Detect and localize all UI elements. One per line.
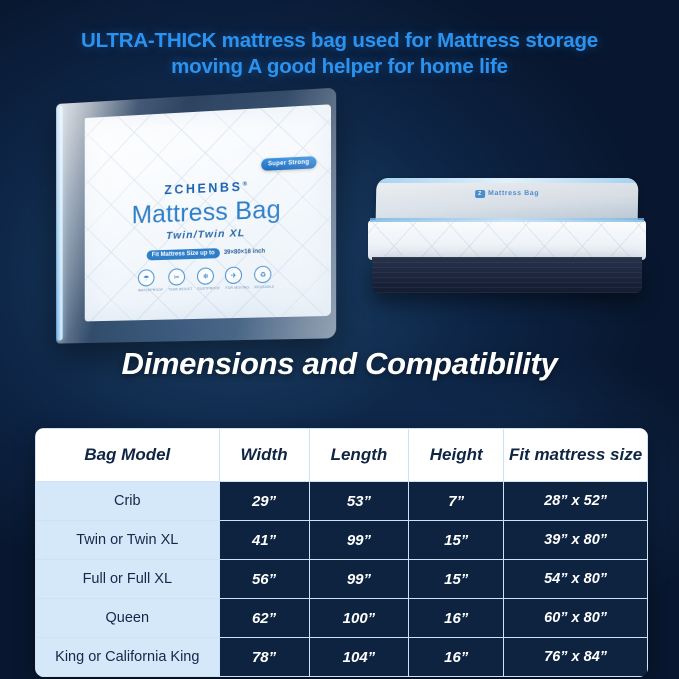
- product-image-standing-bag: Super Strong ZCHENBS® Mattress Bag Twin/…: [52, 96, 334, 341]
- cell-fit-size: 39” x 80”: [504, 521, 648, 560]
- cell-length: 104”: [309, 638, 409, 677]
- headline-line-2: moving A good helper for home life: [0, 54, 679, 80]
- headline-line-1: ULTRA-THICK mattress bag used for Mattre…: [81, 29, 598, 52]
- dimensions-table-container: Bag Model Width Length Height Fit mattre…: [35, 428, 648, 677]
- table-row: King or California King 78” 104” 16” 76”…: [36, 638, 648, 677]
- cell-height: 15”: [409, 560, 504, 599]
- header-length: Length: [309, 429, 409, 482]
- cell-model: King or California King: [36, 638, 220, 677]
- table-row: Crib 29” 53” 7” 28” x 52”: [36, 482, 648, 521]
- mattress-base: [372, 257, 642, 293]
- cell-length: 100”: [309, 599, 409, 638]
- cell-width: 62”: [219, 599, 309, 638]
- mattress-quilt-pattern: [368, 220, 646, 260]
- cell-fit-size: 54” x 80”: [504, 560, 648, 599]
- cell-width: 41”: [219, 521, 309, 560]
- header-width: Width: [219, 429, 309, 482]
- mattress-quilted-top: [368, 220, 646, 260]
- plastic-sheen: [56, 88, 336, 344]
- cell-length: 53”: [309, 482, 409, 521]
- cell-width: 56”: [219, 560, 309, 599]
- bag-plastic-wrap: Super Strong ZCHENBS® Mattress Bag Twin/…: [56, 88, 336, 344]
- cell-model: Crib: [36, 482, 220, 521]
- dimensions-table: Bag Model Width Length Height Fit mattre…: [35, 428, 648, 677]
- cell-fit-size: 76” x 84”: [504, 638, 648, 677]
- product-image-mattress-in-bag: ZMattress Bag: [368, 178, 646, 296]
- bag-cover-edge: [376, 178, 638, 183]
- table-row: Twin or Twin XL 41” 99” 15” 39” x 80”: [36, 521, 648, 560]
- infographic-page: ULTRA-THICK mattress bag used for Mattre…: [0, 0, 679, 679]
- mattress-piping-edge: [370, 218, 644, 222]
- bag-cover-branding: ZMattress Bag: [376, 190, 638, 198]
- cell-model: Full or Full XL: [36, 560, 220, 599]
- cell-model: Twin or Twin XL: [36, 521, 220, 560]
- cell-height: 15”: [409, 521, 504, 560]
- section-title: Dimensions and Compatibility: [0, 346, 679, 382]
- table-row: Queen 62” 100” 16” 60” x 80”: [36, 599, 648, 638]
- header-bag-model: Bag Model: [36, 429, 220, 482]
- bag-cover-label: Mattress Bag: [488, 190, 539, 197]
- header-fit-mattress-size: Fit mattress size: [504, 429, 648, 482]
- cell-height: 16”: [409, 599, 504, 638]
- cell-length: 99”: [309, 560, 409, 599]
- cell-height: 7”: [409, 482, 504, 521]
- cell-width: 29”: [219, 482, 309, 521]
- cell-fit-size: 28” x 52”: [504, 482, 648, 521]
- cell-length: 99”: [309, 521, 409, 560]
- table-row: Full or Full XL 56” 99” 15” 54” x 80”: [36, 560, 648, 599]
- cell-fit-size: 60” x 80”: [504, 599, 648, 638]
- cell-width: 78”: [219, 638, 309, 677]
- cell-height: 16”: [409, 638, 504, 677]
- header-height: Height: [409, 429, 504, 482]
- cell-model: Queen: [36, 599, 220, 638]
- bag-cover-badge: Z: [475, 190, 485, 198]
- page-headline: ULTRA-THICK mattress bag used for Mattre…: [0, 28, 679, 80]
- table-header-row: Bag Model Width Length Height Fit mattre…: [36, 429, 648, 482]
